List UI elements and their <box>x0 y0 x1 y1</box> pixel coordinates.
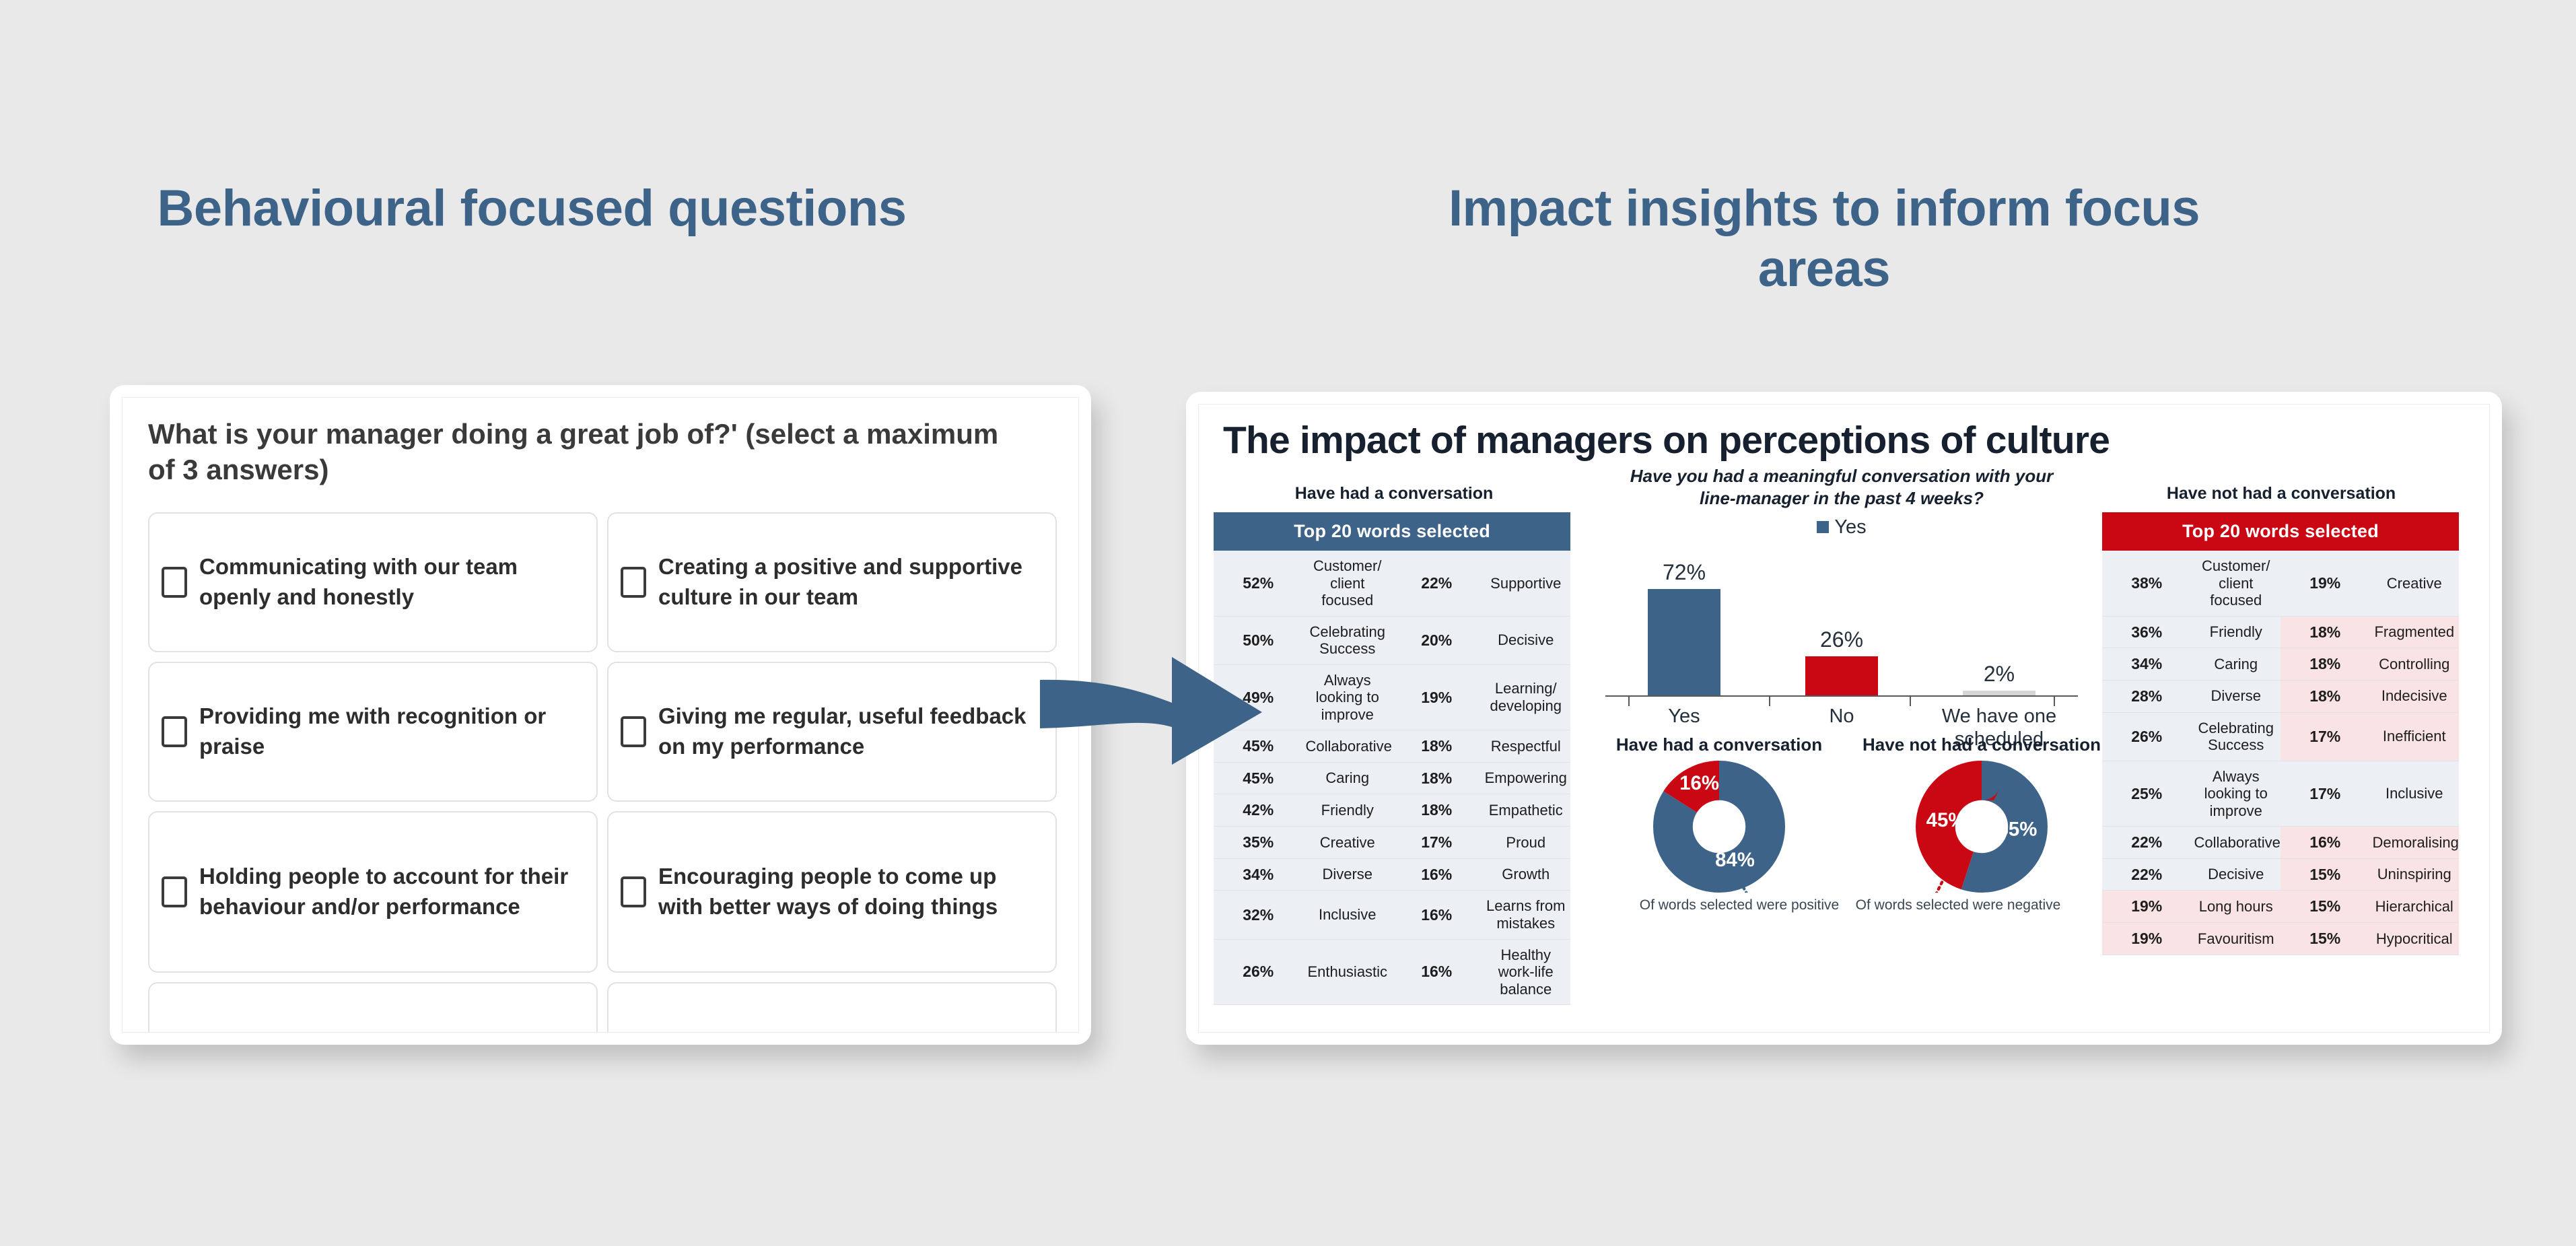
answer-option[interactable]: Giving me regular, useful feedback on my… <box>607 662 1057 802</box>
bar-scheduled <box>1963 691 2035 695</box>
positive-table-caption: Have had a conversation <box>1212 484 1576 504</box>
negative-table-header: Top 20 words selected <box>2102 512 2459 551</box>
cell-word-left: Diverse <box>1303 858 1393 891</box>
cell-percent-left: 52% <box>1214 551 1303 616</box>
bar-value-label: 26% <box>1820 627 1863 652</box>
cell-percent-right: 19% <box>1392 664 1482 730</box>
cell-percent-left: 28% <box>2102 680 2192 712</box>
answer-option-label: Encouraging people to come up with bette… <box>658 862 1038 922</box>
checkbox-icon[interactable] <box>621 567 646 598</box>
cell-word-right: Decisive <box>1482 616 1571 664</box>
bar-yes <box>1648 589 1720 695</box>
bar-chart-title: Have you had a meaningful conversation w… <box>1582 465 2101 510</box>
cell-word-left: Collaborative <box>1303 730 1393 763</box>
answer-option-label: Giving me regular, useful feedback on my… <box>658 701 1038 762</box>
answer-option-label: Communicating with our team openly and h… <box>199 552 579 613</box>
cell-word-left: Favouritism <box>2192 923 2281 955</box>
cell-percent-right: 17% <box>1392 827 1482 859</box>
bar-column: 2% <box>1932 662 2066 695</box>
table-row: 19%Long hours15%Hierarchical <box>2102 891 2459 923</box>
answer-option[interactable]: Encouraging people to come up with bette… <box>607 811 1057 973</box>
checkbox-icon[interactable] <box>621 716 646 747</box>
cell-word-right: Learns from mistakes <box>1482 891 1571 939</box>
legend-label: Yes <box>1834 516 1866 539</box>
bar-column: 72% <box>1617 560 1751 695</box>
table-row: 45%Collaborative18%Respectful <box>1214 730 1570 763</box>
answer-option[interactable]: Giving me time to learn <box>148 982 598 1033</box>
answer-options-grid: Communicating with our team openly and h… <box>148 512 1057 1033</box>
cell-percent-right: 18% <box>2281 680 2370 712</box>
donut-graphic: 55% 45% <box>1850 761 2113 893</box>
cell-word-right: Respectful <box>1482 730 1571 763</box>
table-row: 38%Customer/ client focused19%Creative <box>2102 551 2459 616</box>
cell-word-right: Hierarchical <box>2370 891 2460 923</box>
donut-title: Have not had a conversation <box>1850 734 2113 755</box>
cell-word-left: Caring <box>1303 762 1393 794</box>
table-row: 22%Collaborative16%Demoralising <box>2102 827 2459 859</box>
cell-percent-left: 34% <box>1214 858 1303 891</box>
impact-dashboard-card: The impact of managers on perceptions of… <box>1186 392 2502 1045</box>
cell-word-left: Diverse <box>2192 680 2281 712</box>
cell-word-right: Empowering <box>1482 762 1571 794</box>
cell-word-left: Always looking to improve <box>2192 761 2281 827</box>
bar-column: 26% <box>1774 627 1909 695</box>
bar-plot-area: 72% 26% 2% <box>1605 545 2078 697</box>
answer-option-label: Holding people to account for their beha… <box>199 862 579 922</box>
cell-percent-left: 26% <box>2102 712 2192 761</box>
impact-inner-frame: The impact of managers on perceptions of… <box>1198 404 2490 1033</box>
negative-table-body: 38%Customer/ client focused19%Creative36… <box>2102 551 2459 955</box>
cell-percent-left: 42% <box>1214 794 1303 827</box>
cell-word-right: Empathetic <box>1482 794 1571 827</box>
cell-word-left: Friendly <box>1303 794 1393 827</box>
cell-word-left: Celebrating Success <box>1303 616 1393 664</box>
donut-annotation: Of words selected were negative <box>1850 897 2113 914</box>
cell-percent-right: 18% <box>1392 762 1482 794</box>
answer-option-label: Providing me with recognition or praise <box>199 701 579 762</box>
cell-word-right: Inclusive <box>2370 761 2460 827</box>
cell-percent-right: 18% <box>2281 648 2370 681</box>
table-row: 36%Friendly18%Fragmented <box>2102 616 2459 648</box>
cell-percent-right: 17% <box>2281 712 2370 761</box>
donut-label-positive: 84% <box>1715 849 1755 871</box>
table-row: 22%Decisive15%Uninspiring <box>2102 858 2459 891</box>
cell-word-right: Healthy work-life balance <box>1482 939 1571 1005</box>
cell-word-left: Customer/ client focused <box>2192 551 2281 616</box>
table-row: 28%Diverse18%Indecisive <box>2102 680 2459 712</box>
bar-chart-legend: Yes <box>1582 516 2101 539</box>
table-row: 34%Diverse16%Growth <box>1214 858 1570 891</box>
checkbox-icon[interactable] <box>162 716 187 747</box>
survey-inner-frame: What is your manager doing a great job o… <box>122 397 1079 1033</box>
donut-label-positive: 55% <box>1998 819 2038 841</box>
cell-word-right: Inefficient <box>2370 712 2460 761</box>
cell-percent-right: 16% <box>1392 891 1482 939</box>
cell-word-left: Customer/ client focused <box>1303 551 1393 616</box>
cell-percent-left: 36% <box>2102 616 2192 648</box>
cell-percent-right: 19% <box>2281 551 2370 616</box>
cell-percent-right: 15% <box>2281 923 2370 955</box>
cell-word-left: Creative <box>1303 827 1393 859</box>
cell-percent-left: 25% <box>2102 761 2192 827</box>
negative-words-table: Top 20 words selected 38%Customer/ clien… <box>2102 512 2459 955</box>
table-row: 25%Always looking to improve17%Inclusive <box>2102 761 2459 827</box>
cell-percent-left: 19% <box>2102 891 2192 923</box>
cell-word-right: Proud <box>1482 827 1571 859</box>
answer-option-label: Creating a positive and supportive cultu… <box>658 552 1038 613</box>
donut-label-negative: 45% <box>1926 809 1966 831</box>
cell-word-right: Demoralising <box>2370 827 2460 859</box>
cell-word-left: Celebrating Success <box>2192 712 2281 761</box>
table-row: 42%Friendly18%Empathetic <box>1214 794 1570 827</box>
cell-percent-right: 22% <box>1392 551 1482 616</box>
question-heading: What is your manager doing a great job o… <box>148 417 1030 488</box>
donut-had-conversation: Have had a conversation 84% 16% Of words… <box>1588 734 1850 914</box>
table-row: 34%Caring18%Controlling <box>2102 648 2459 681</box>
cell-word-left: Inclusive <box>1303 891 1393 939</box>
donut-title: Have had a conversation <box>1588 734 1850 755</box>
cell-word-left: Long hours <box>2192 891 2281 923</box>
cell-percent-right: 16% <box>2281 827 2370 859</box>
donut-graphic: 84% 16% <box>1588 761 1850 893</box>
cell-word-right: Learning/ developing <box>1482 664 1571 730</box>
cell-percent-right: 20% <box>1392 616 1482 664</box>
table-row: 45%Caring18%Empowering <box>1214 762 1570 794</box>
cell-word-left: Enthusiastic <box>1303 939 1393 1005</box>
cell-percent-left: 22% <box>2102 827 2192 859</box>
cell-percent-left: 38% <box>2102 551 2192 616</box>
cell-word-right: Fragmented <box>2370 616 2460 648</box>
impact-card-title: The impact of managers on perceptions of… <box>1223 418 2110 462</box>
cell-word-right: Creative <box>2370 551 2460 616</box>
positive-table-body: 52%Customer/ client focused22%Supportive… <box>1214 551 1570 1005</box>
positive-table-header: Top 20 words selected <box>1214 512 1570 551</box>
donut-annotation: Of words selected were positive <box>1588 897 1850 914</box>
cell-word-left: Caring <box>2192 648 2281 681</box>
survey-question-card: What is your manager doing a great job o… <box>110 385 1091 1045</box>
answer-option[interactable]: Communicating with our team openly and h… <box>148 512 598 652</box>
donut-not-had-conversation: Have not had a conversation 55% 45% Of w… <box>1850 734 2113 914</box>
cell-percent-right: 15% <box>2281 891 2370 923</box>
donut-label-negative: 16% <box>1679 772 1719 794</box>
positive-words-table: Top 20 words selected 52%Customer/ clien… <box>1214 512 1570 1005</box>
cell-percent-left: 35% <box>1214 827 1303 859</box>
table-row: 19%Favouritism15%Hypocritical <box>2102 923 2459 955</box>
table-row: 35%Creative17%Proud <box>1214 827 1570 859</box>
left-section-title: Behavioural focused questions <box>114 178 949 239</box>
cell-percent-left: 32% <box>1214 891 1303 939</box>
flow-arrow-icon <box>1040 633 1262 774</box>
cell-percent-right: 16% <box>1392 858 1482 891</box>
cell-word-right: Supportive <box>1482 551 1571 616</box>
checkbox-icon[interactable] <box>162 876 187 907</box>
legend-swatch-icon <box>1817 521 1829 533</box>
answer-option[interactable]: Holding people to account for their beha… <box>148 811 598 973</box>
cell-word-left: Friendly <box>2192 616 2281 648</box>
cell-word-left: Always looking to improve <box>1303 664 1393 730</box>
cell-word-right: Indecisive <box>2370 680 2460 712</box>
right-section-title: Impact insights to inform focus areas <box>1427 178 2221 299</box>
checkbox-icon[interactable] <box>162 567 187 598</box>
cell-percent-right: 15% <box>2281 858 2370 891</box>
cell-word-right: Growth <box>1482 858 1571 891</box>
table-row: 49%Always looking to improve19%Learning/… <box>1214 664 1570 730</box>
cell-word-left: Decisive <box>2192 858 2281 891</box>
answer-option[interactable]: Encouraging continuous learning <box>607 982 1057 1033</box>
bar-value-label: 72% <box>1663 560 1706 585</box>
negative-table-caption: Have not had a conversation <box>2099 484 2463 504</box>
checkbox-icon[interactable] <box>621 876 646 907</box>
cell-percent-right: 16% <box>1392 939 1482 1005</box>
cell-word-right: Uninspiring <box>2370 858 2460 891</box>
cell-percent-right: 18% <box>1392 794 1482 827</box>
answer-option[interactable]: Providing me with recognition or praise <box>148 662 598 802</box>
cell-percent-left: 19% <box>2102 923 2192 955</box>
table-row: 26%Celebrating Success17%Inefficient <box>2102 712 2459 761</box>
cell-percent-right: 17% <box>2281 761 2370 827</box>
cell-percent-right: 18% <box>2281 616 2370 648</box>
cell-percent-left: 22% <box>2102 858 2192 891</box>
cell-word-right: Controlling <box>2370 648 2460 681</box>
bar-no <box>1805 656 1878 695</box>
cell-percent-right: 18% <box>1392 730 1482 763</box>
answer-option[interactable]: Creating a positive and supportive cultu… <box>607 512 1057 652</box>
table-row: 50%Celebrating Success20%Decisive <box>1214 616 1570 664</box>
cell-word-left: Collaborative <box>2192 827 2281 859</box>
table-row: 32%Inclusive16%Learns from mistakes <box>1214 891 1570 939</box>
bar-value-label: 2% <box>1984 662 2015 687</box>
cell-percent-left: 26% <box>1214 939 1303 1005</box>
cell-percent-left: 34% <box>2102 648 2192 681</box>
conversation-bar-chart: Have you had a meaningful conversation w… <box>1582 465 2101 734</box>
axis-ticks <box>1628 697 2055 706</box>
table-row: 26%Enthusiastic16%Healthy work-life bala… <box>1214 939 1570 1005</box>
cell-word-right: Hypocritical <box>2370 923 2460 955</box>
table-row: 52%Customer/ client focused22%Supportive <box>1214 551 1570 616</box>
